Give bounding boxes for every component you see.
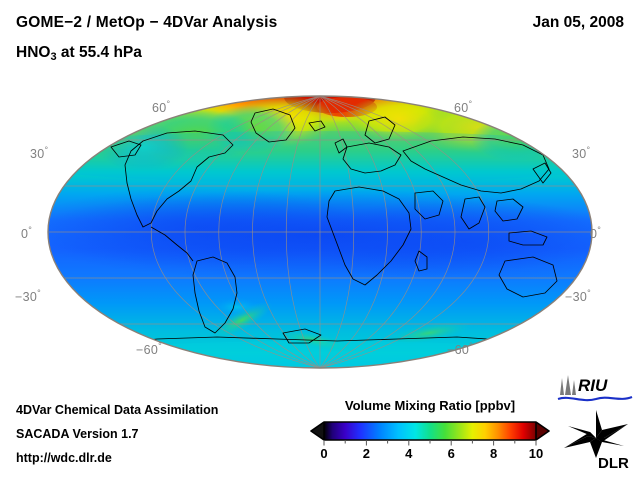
lat-label-right-60: 60° — [454, 99, 472, 115]
lat-label-right-m60: −60° — [447, 341, 473, 357]
colorbar-tick-2: 2 — [363, 446, 370, 461]
lat-label-left-m60: −60° — [136, 341, 162, 357]
map-data-layer — [47, 95, 593, 369]
colorbar-tick-0: 0 — [320, 446, 327, 461]
lat-label-left-60: 60° — [152, 99, 170, 115]
riu-wave-icon — [558, 397, 632, 400]
colorbar-tick-6: 6 — [448, 446, 455, 461]
colorbar-scale — [310, 420, 550, 446]
lat-label-right-m30: −30° — [565, 288, 591, 304]
lat-label-left-0: 0° — [21, 225, 32, 241]
subtitle-subscript: 3 — [50, 51, 56, 63]
dlr-logo: DLR — [562, 408, 634, 470]
footer-line-version: SACADA Version 1.7 — [16, 427, 139, 441]
lat-label-right-0: 0° — [590, 225, 601, 241]
dlr-pinwheel-icon — [564, 410, 628, 458]
riu-spikes-icon — [560, 375, 576, 395]
colorbar-tick-4: 4 — [405, 446, 412, 461]
colorbar: Volume Mixing Ratio [ppbv] — [310, 398, 550, 470]
lat-label-right-30: 30° — [572, 145, 590, 161]
page-subtitle: HNO3 at 55.4 hPa — [16, 44, 142, 62]
map-panel: 60° 30° 0° −30° −60° 60° 30° 0° −30° −60… — [47, 95, 593, 369]
world-map — [47, 95, 593, 369]
lat-label-left-30: 30° — [30, 145, 48, 161]
riu-logo: RIU — [556, 375, 634, 405]
colorbar-title: Volume Mixing Ratio [ppbv] — [310, 398, 550, 413]
footer-link-wdc[interactable]: http://wdc.dlr.de — [16, 451, 112, 465]
date-label: Jan 05, 2008 — [533, 14, 624, 32]
subtitle-level: at 55.4 hPa — [57, 44, 142, 61]
lat-label-left-m30: −30° — [15, 288, 41, 304]
footer-line-assimilation: 4DVar Chemical Data Assimilation — [16, 403, 218, 417]
riu-wordmark: RIU — [578, 376, 608, 395]
colorbar-tick-labels: 0 2 4 6 8 10 — [310, 446, 550, 466]
dlr-wordmark: DLR — [598, 455, 629, 470]
colorbar-tick-8: 8 — [490, 446, 497, 461]
subtitle-species: HNO — [16, 44, 50, 61]
page-title: GOME−2 / MetOp − 4DVar Analysis — [16, 14, 277, 32]
figure-root: GOME−2 / MetOp − 4DVar Analysis HNO3 at … — [0, 0, 640, 480]
colorbar-tick-10: 10 — [529, 446, 543, 461]
